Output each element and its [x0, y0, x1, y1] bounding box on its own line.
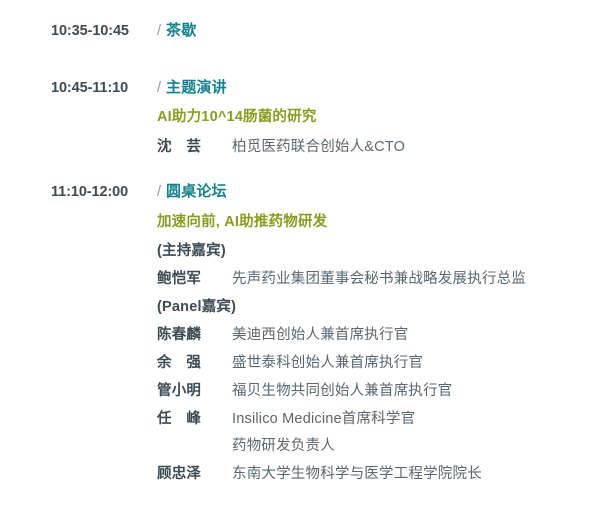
session-subtitle: 加速向前, AI助推药物研发 [157, 210, 600, 231]
speaker-title: 柏觅医药联合创始人&CTO [232, 135, 405, 156]
speaker-name: 鲍恺军 [157, 267, 232, 288]
agenda-schedule: 10:35-10:45 / 茶歇 10:45-11:10 / 主题演讲 AI助力… [0, 0, 600, 510]
session-separator: / [156, 184, 166, 200]
speaker-row: 沈 芸 柏觅医药联合创始人&CTO [157, 135, 600, 156]
speaker-row: 余 强 盛世泰科创始人兼首席执行官 [157, 351, 600, 372]
speaker-name: 余 强 [157, 351, 232, 372]
guest-group-label: (Panel嘉宾) [157, 295, 600, 316]
speaker-name: 管小明 [157, 379, 232, 400]
session-header: 10:45-11:10 / 主题演讲 [0, 76, 600, 97]
speaker-title: 美迪西创始人兼首席执行官 [232, 323, 408, 344]
session-block: 11:10-12:00 / 圆桌论坛 加速向前, AI助推药物研发 (主持嘉宾)… [0, 180, 600, 483]
session-kind: 圆桌论坛 [166, 180, 227, 201]
speaker-title: 东南大学生物科学与医学工程学院院长 [232, 462, 482, 483]
session-subtitle: AI助力10^14肠菌的研究 [157, 105, 600, 126]
speaker-title-continuation: 药物研发负责人 [232, 434, 600, 455]
guest-group-label: (主持嘉宾) [157, 239, 600, 260]
speaker-title: Insilico Medicine首席科学官 [232, 407, 415, 428]
session-block: 10:35-10:45 / 茶歇 [0, 19, 600, 40]
speaker-name: 沈 芸 [157, 135, 232, 156]
speaker-row: 鲍恺军 先声药业集团董事会秘书兼战略发展执行总监 [157, 267, 600, 288]
speaker-name: 任 峰 [157, 407, 232, 428]
session-time: 10:45-11:10 [0, 80, 156, 96]
speaker-row: 顾忠泽 东南大学生物科学与医学工程学院院长 [157, 462, 600, 483]
session-header: 10:35-10:45 / 茶歇 [0, 19, 600, 40]
session-separator: / [156, 80, 166, 96]
speaker-row: 管小明 福贝生物共同创始人兼首席执行官 [157, 379, 600, 400]
speaker-row: 陈春麟 美迪西创始人兼首席执行官 [157, 323, 600, 344]
session-header: 11:10-12:00 / 圆桌论坛 [0, 180, 600, 201]
speaker-title: 先声药业集团董事会秘书兼战略发展执行总监 [232, 267, 526, 288]
session-block: 10:45-11:10 / 主题演讲 AI助力10^14肠菌的研究 沈 芸 柏觅… [0, 76, 600, 156]
session-time: 11:10-12:00 [0, 184, 156, 200]
speaker-title: 福贝生物共同创始人兼首席执行官 [232, 379, 453, 400]
speaker-title: 盛世泰科创始人兼首席执行官 [232, 351, 423, 372]
session-time: 10:35-10:45 [0, 23, 156, 39]
speaker-name: 顾忠泽 [157, 462, 232, 483]
session-kind: 主题演讲 [166, 76, 227, 97]
session-kind: 茶歇 [166, 19, 196, 40]
speaker-name: 陈春麟 [157, 323, 232, 344]
speaker-row: 任 峰 Insilico Medicine首席科学官 [157, 407, 600, 428]
session-separator: / [156, 23, 166, 39]
